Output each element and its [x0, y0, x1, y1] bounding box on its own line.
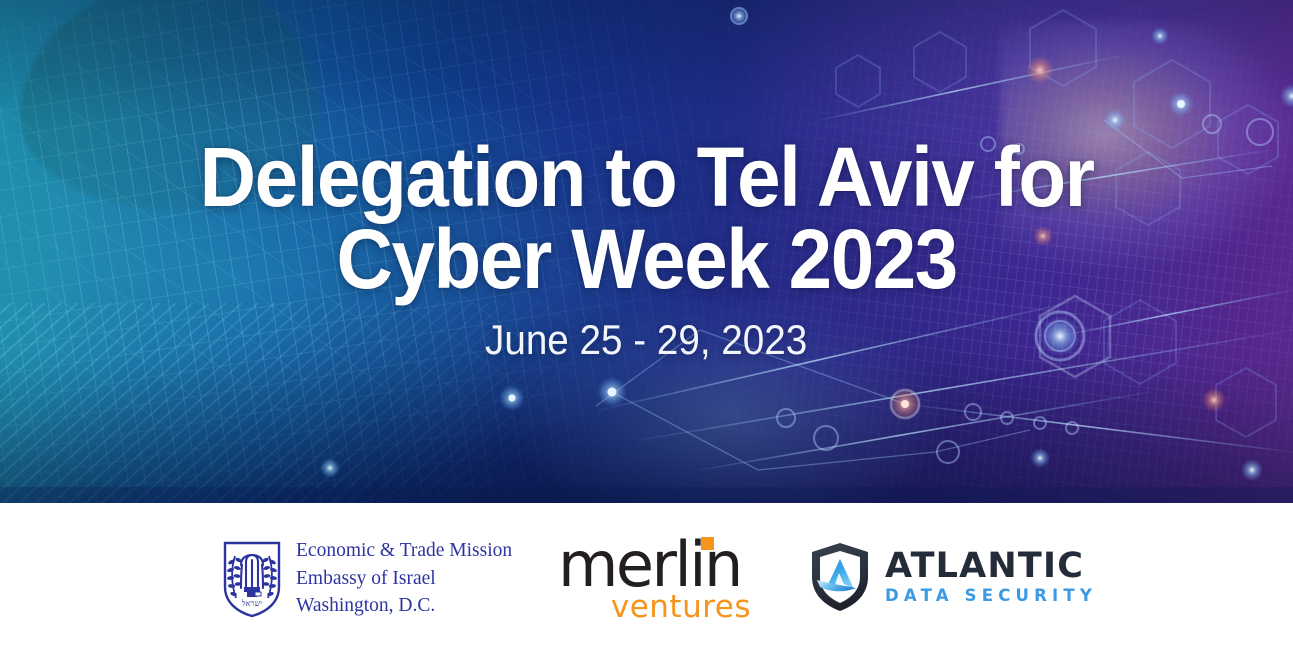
hero-banner: Delegation to Tel Aviv for Cyber Week 20… — [0, 0, 1293, 503]
shield-with-arrow-icon — [808, 541, 872, 613]
atlantic-lockup-text: ATLANTIC DATA SECURITY — [885, 549, 1097, 605]
event-banner-page: Delegation to Tel Aviv for Cyber Week 20… — [0, 0, 1293, 660]
atlantic-tagline: DATA SECURITY — [885, 588, 1097, 605]
israel-line-1: Economic & Trade Mission — [296, 538, 512, 564]
network-decoration — [0, 0, 1293, 503]
sponsor-logo-merlin-ventures[interactable]: merlin ventures — [558, 536, 758, 620]
israel-line-2: Embassy of Israel — [296, 566, 512, 592]
svg-text:ישראל: ישראל — [241, 599, 262, 608]
merlin-orange-square-dot-icon — [701, 537, 714, 550]
israel-lockup-text: Economic & Trade Mission Embassy of Isra… — [296, 538, 512, 619]
sponsor-logo-atlantic-data-security[interactable]: ATLANTIC DATA SECURITY — [808, 541, 1097, 613]
israel-state-emblem-icon: ישראל — [222, 540, 282, 618]
israel-line-3: Washington, D.C. — [296, 593, 512, 619]
sponsor-logo-israel-trade-mission[interactable]: ישראל Economic & Trade Mission Embassy o… — [222, 538, 512, 619]
sponsor-logo-strip: ישראל Economic & Trade Mission Embassy o… — [0, 503, 1293, 660]
atlantic-wordmark: ATLANTIC — [885, 549, 1097, 584]
merlin-wordmark: merlin — [558, 536, 758, 593]
